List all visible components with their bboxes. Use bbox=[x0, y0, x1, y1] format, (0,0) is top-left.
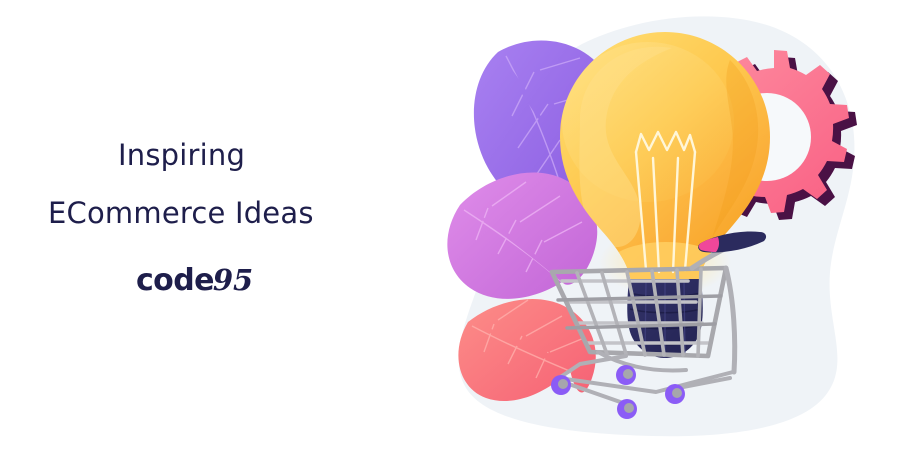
cart-wheel bbox=[551, 375, 571, 395]
cart-wheel bbox=[665, 384, 685, 404]
lightbulb-cart-illustration bbox=[430, 0, 900, 450]
headline-line-2: ECommerce Ideas bbox=[48, 196, 314, 230]
brand-logo-number: 95 bbox=[213, 266, 253, 295]
headline-block: Inspiring ECommerce Ideas code 95 bbox=[0, 0, 440, 450]
cart-wheel bbox=[616, 365, 636, 385]
brand-logo: code 95 bbox=[136, 266, 253, 308]
brand-logo-word: code bbox=[136, 266, 214, 296]
headline-line-1: Inspiring bbox=[118, 138, 245, 172]
banner-root: Inspiring ECommerce Ideas code 95 bbox=[0, 0, 900, 450]
cart-wheel bbox=[617, 399, 637, 419]
